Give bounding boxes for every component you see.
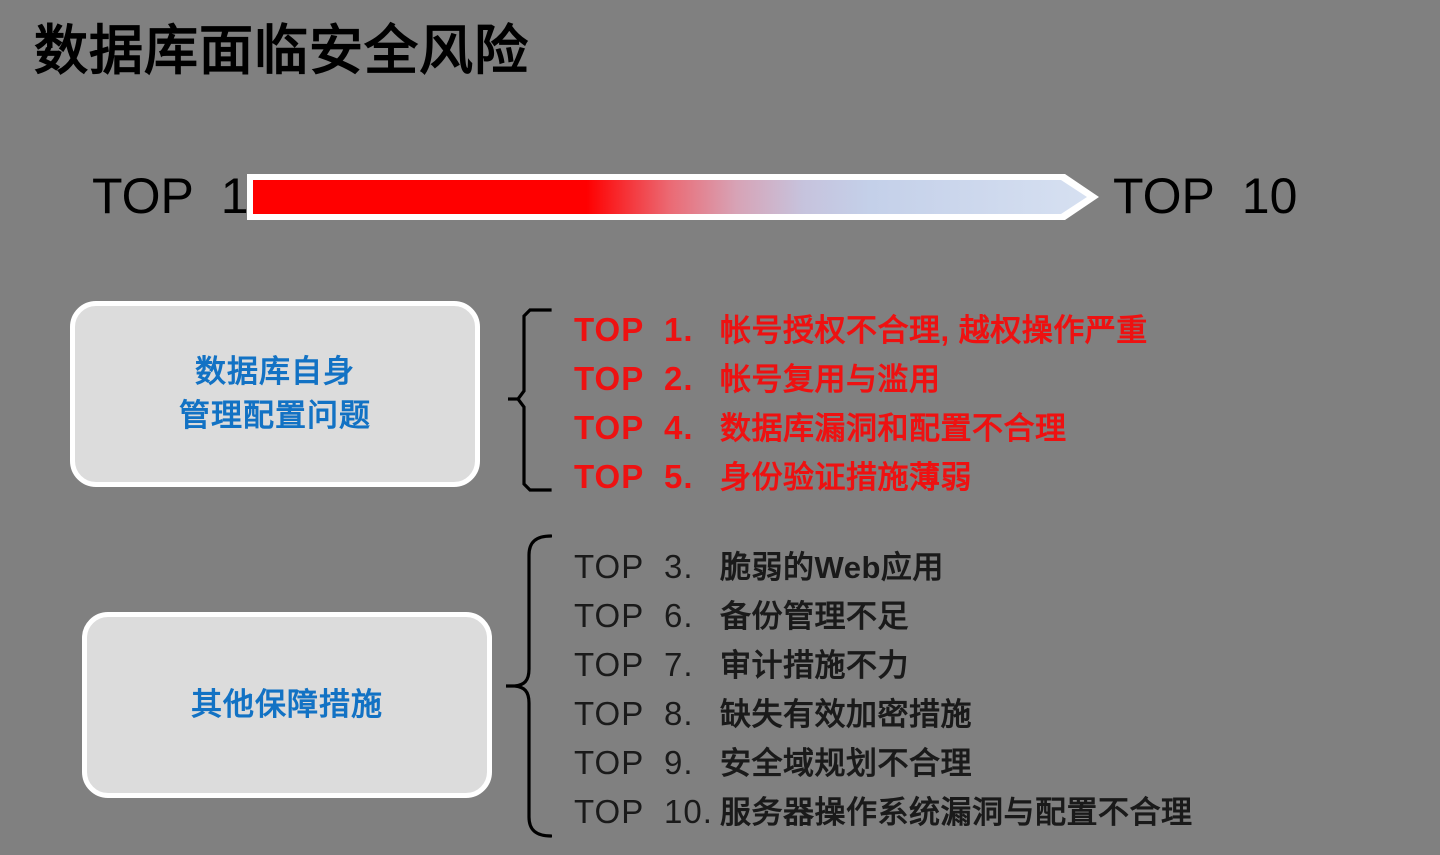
category-box-other-safeguards[interactable]: 其他保障措施	[82, 612, 492, 798]
risk-text: 备份管理不足	[720, 591, 909, 636]
risk-rank: TOP 3.	[574, 548, 720, 586]
severity-scale: TOP 1 TOP 10	[0, 160, 1440, 232]
risk-rank: TOP 10.	[574, 793, 720, 831]
risk-rank: TOP 4.	[574, 409, 720, 447]
risk-row[interactable]: TOP 2. 帐号复用与滥用	[574, 354, 1148, 403]
risk-row[interactable]: TOP 7. 审计措施不力	[574, 640, 1193, 689]
risk-text: 安全域规划不合理	[720, 738, 972, 783]
risk-row[interactable]: TOP 3. 脆弱的Web应用	[574, 542, 1193, 591]
risk-row[interactable]: TOP 8. 缺失有效加密措施	[574, 689, 1193, 738]
risk-rank: TOP 5.	[574, 458, 720, 496]
risk-row[interactable]: TOP 4. 数据库漏洞和配置不合理	[574, 403, 1148, 452]
risk-row[interactable]: TOP 10. 服务器操作系统漏洞与配置不合理	[574, 787, 1193, 836]
risk-text: 帐号授权不合理, 越权操作严重	[720, 305, 1148, 350]
category-label-other-safeguards: 其他保障措施	[191, 683, 383, 727]
risk-row[interactable]: TOP 1. 帐号授权不合理, 越权操作严重	[574, 305, 1148, 354]
severity-label-top1: TOP 1	[92, 160, 249, 232]
curly-brace-icon-other	[506, 533, 552, 839]
category-label-db-self: 数据库自身 管理配置问题	[179, 350, 371, 438]
severity-label-top10: TOP 10	[1113, 160, 1297, 232]
risk-text: 审计措施不力	[720, 640, 909, 685]
risk-row[interactable]: TOP 6. 备份管理不足	[574, 591, 1193, 640]
risk-rank: TOP 8.	[574, 695, 720, 733]
category-box-db-self[interactable]: 数据库自身 管理配置问题	[70, 301, 480, 487]
risk-text: 服务器操作系统漏洞与配置不合理	[720, 787, 1193, 832]
risk-rank: TOP 9.	[574, 744, 720, 782]
risk-text: 数据库漏洞和配置不合理	[720, 403, 1067, 448]
curly-brace-icon-critical	[508, 307, 552, 493]
risk-rank: TOP 2.	[574, 360, 720, 398]
page-title: 数据库面临安全风险	[34, 18, 529, 84]
severity-gradient-arrow-icon	[247, 174, 1099, 220]
risk-rank: TOP 7.	[574, 646, 720, 684]
risk-list-critical: TOP 1. 帐号授权不合理, 越权操作严重 TOP 2. 帐号复用与滥用 TO…	[574, 305, 1148, 501]
risk-text: 脆弱的Web应用	[720, 542, 944, 587]
risk-rank: TOP 1.	[574, 311, 720, 349]
risk-text: 身份验证措施薄弱	[720, 452, 972, 497]
risk-list-other: TOP 3. 脆弱的Web应用 TOP 6. 备份管理不足 TOP 7. 审计措…	[574, 542, 1193, 836]
risk-text: 缺失有效加密措施	[720, 689, 972, 734]
risk-rank: TOP 6.	[574, 597, 720, 635]
risk-row[interactable]: TOP 9. 安全域规划不合理	[574, 738, 1193, 787]
risk-text: 帐号复用与滥用	[720, 354, 941, 399]
risk-row[interactable]: TOP 5. 身份验证措施薄弱	[574, 452, 1148, 501]
